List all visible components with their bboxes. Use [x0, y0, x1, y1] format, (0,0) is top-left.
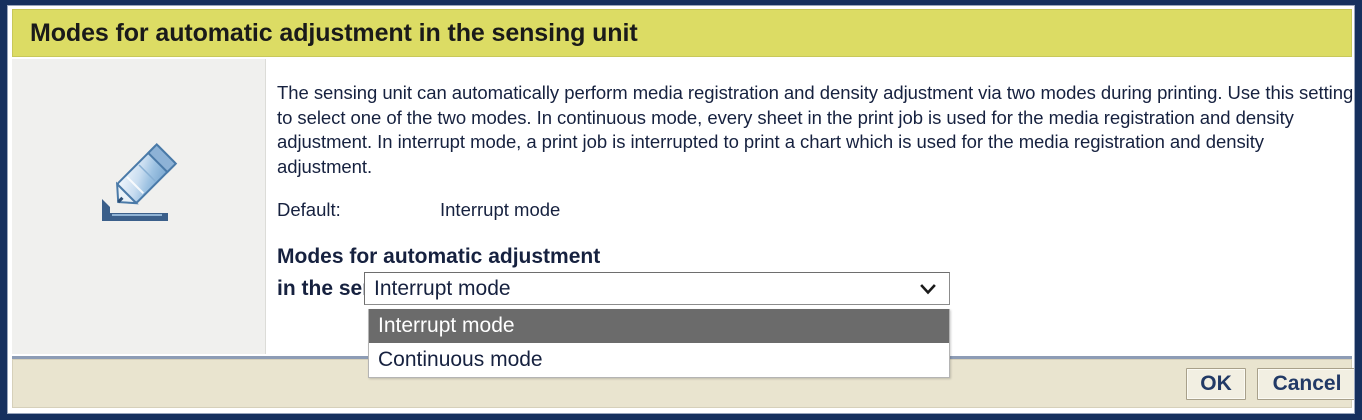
- chevron-down-icon[interactable]: [907, 279, 949, 299]
- pencil-icon: [94, 131, 194, 231]
- ok-button[interactable]: OK: [1186, 368, 1246, 400]
- mode-select[interactable]: Interrupt mode: [364, 272, 950, 305]
- dialog-titlebar: Modes for automatic adjustment in the se…: [12, 9, 1352, 57]
- dialog-title: Modes for automatic adjustment in the se…: [13, 19, 638, 48]
- default-row: Default:Interrupt mode: [277, 199, 560, 221]
- mode-select-options[interactable]: Interrupt mode Continuous mode: [368, 309, 950, 378]
- icon-panel: [12, 59, 266, 354]
- option-interrupt-mode[interactable]: Interrupt mode: [369, 309, 949, 343]
- description-text: The sensing unit can automatically perfo…: [277, 81, 1354, 179]
- dialog-body: The sensing unit can automatically perfo…: [12, 59, 1352, 354]
- mode-select-value: Interrupt mode: [365, 277, 907, 301]
- default-value: Interrupt mode: [440, 199, 560, 221]
- cancel-button[interactable]: Cancel: [1257, 368, 1355, 400]
- dialog-window: Modes for automatic adjustment in the se…: [0, 0, 1362, 420]
- dialog-frame: Modes for automatic adjustment in the se…: [7, 5, 1355, 414]
- default-label: Default:: [277, 199, 440, 221]
- option-continuous-mode[interactable]: Continuous mode: [369, 343, 949, 377]
